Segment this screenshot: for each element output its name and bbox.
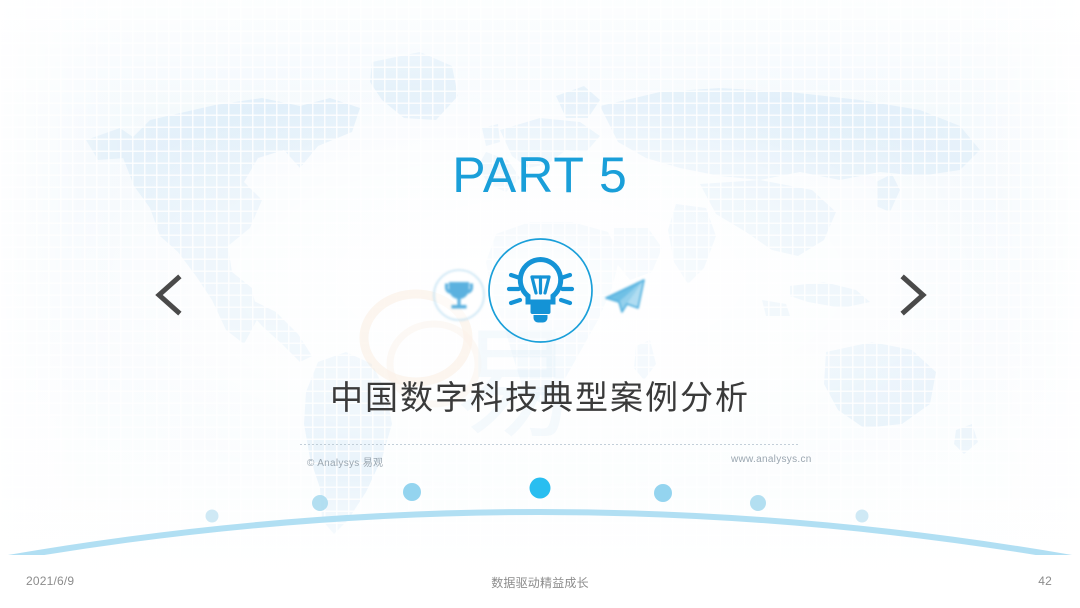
chevron-left-icon[interactable] — [148, 270, 192, 320]
copyright-label: © Analysys 易观 — [307, 454, 383, 469]
icon-cluster — [410, 228, 670, 368]
footer-tagline: 数据驱动精益成长 — [0, 574, 1080, 591]
trophy-icon — [430, 266, 488, 324]
chevron-right-icon[interactable] — [890, 270, 934, 320]
slide-canvas: 易 PART 5 — [0, 0, 1080, 608]
footer-page-number: 42 — [1038, 574, 1052, 588]
lightbulb-icon — [487, 237, 594, 344]
page-title: 中国数字科技典型案例分析 — [0, 371, 1080, 419]
credit-divider — [300, 444, 798, 445]
part-label: PART 5 — [0, 146, 1080, 204]
paper-plane-icon — [596, 266, 654, 324]
website-label[interactable]: www.analysys.cn — [731, 454, 812, 465]
